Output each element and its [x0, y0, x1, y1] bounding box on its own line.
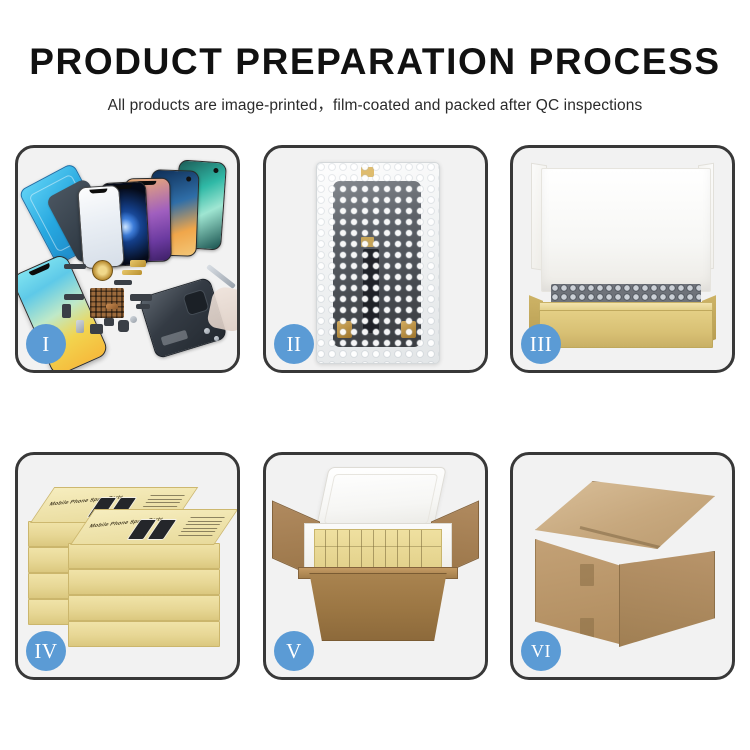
page-subtitle: All products are image-printed，film-coat… — [0, 93, 750, 115]
part-taptic-icon — [118, 320, 129, 332]
header: PRODUCT PREPARATION PROCESS All products… — [0, 0, 750, 115]
part-camera-module — [90, 324, 103, 334]
foam-lid-icon — [315, 467, 447, 531]
bubble-wrap-bag-icon — [316, 162, 440, 364]
process-step-panel-4: Mobile Phone Spare Parts Mobile Phone Sp… — [15, 452, 240, 680]
scene-sealed-shipping-carton: VI — [513, 455, 732, 677]
foam-sheet-icon — [541, 168, 711, 292]
part-flex-3 — [136, 304, 150, 309]
part-flex-2 — [130, 294, 152, 301]
page-title: PRODUCT PREPARATION PROCESS — [0, 43, 750, 82]
step-badge-6: VI — [521, 631, 561, 671]
carton-top-face — [535, 481, 715, 549]
step-badge-1: I — [26, 324, 66, 364]
step-badge-3: III — [521, 324, 561, 364]
retail-box-label-front: Mobile Phone Spare Parts — [70, 509, 238, 545]
scene-phones-and-spare-parts: I — [18, 148, 237, 370]
part-bracket-2 — [62, 304, 71, 318]
process-step-panel-3: III — [510, 145, 735, 373]
part-flex-gold-1 — [130, 260, 146, 267]
step-badge-2: II — [274, 324, 314, 364]
part-screw-2 — [204, 328, 210, 334]
carton-front-face — [300, 573, 456, 641]
retail-box-front-2 — [68, 569, 220, 595]
scene-bubble-wrapped-lcd: II — [266, 148, 485, 370]
retail-box-front-4 — [68, 621, 220, 647]
box-label-spec-lines-front — [176, 517, 225, 539]
part-speaker-icon — [104, 318, 114, 326]
retail-box-front-3 — [68, 595, 220, 621]
part-bracket-1 — [64, 294, 84, 300]
phone-glass-protector-icon — [77, 185, 125, 270]
carton-right-face — [619, 551, 715, 647]
carton-left-face — [535, 539, 623, 645]
retail-box-front-1 — [68, 543, 220, 569]
part-screw-3 — [214, 336, 219, 341]
process-step-panel-2: II — [263, 145, 488, 373]
part-screw-1 — [130, 316, 137, 323]
carton-tape-upper — [580, 564, 594, 586]
part-button-1 — [76, 320, 84, 333]
process-step-panel-6: VI — [510, 452, 735, 680]
part-flex-gold-2 — [122, 270, 142, 275]
part-connector-1 — [64, 264, 86, 269]
scene-stacked-retail-boxes: Mobile Phone Spare Parts Mobile Phone Sp… — [18, 455, 237, 677]
speaker-coil-icon — [92, 260, 113, 281]
process-step-panel-5: V — [263, 452, 488, 680]
chip-array-icon — [90, 288, 124, 318]
step-badge-5: V — [274, 631, 314, 671]
part-cable-1 — [106, 304, 118, 309]
step-badge-4: IV — [26, 631, 66, 671]
part-flex-1 — [114, 280, 132, 285]
carton-tape-lower — [580, 618, 594, 638]
kraft-box-front — [539, 310, 713, 348]
infographic-page: PRODUCT PREPARATION PROCESS All products… — [0, 0, 750, 750]
bubble-texture — [317, 163, 439, 363]
process-step-panel-1: I — [15, 145, 240, 373]
scene-open-kraft-box-with-foam: III — [513, 148, 732, 370]
scene-carton-with-foam-liner: V — [266, 455, 485, 677]
